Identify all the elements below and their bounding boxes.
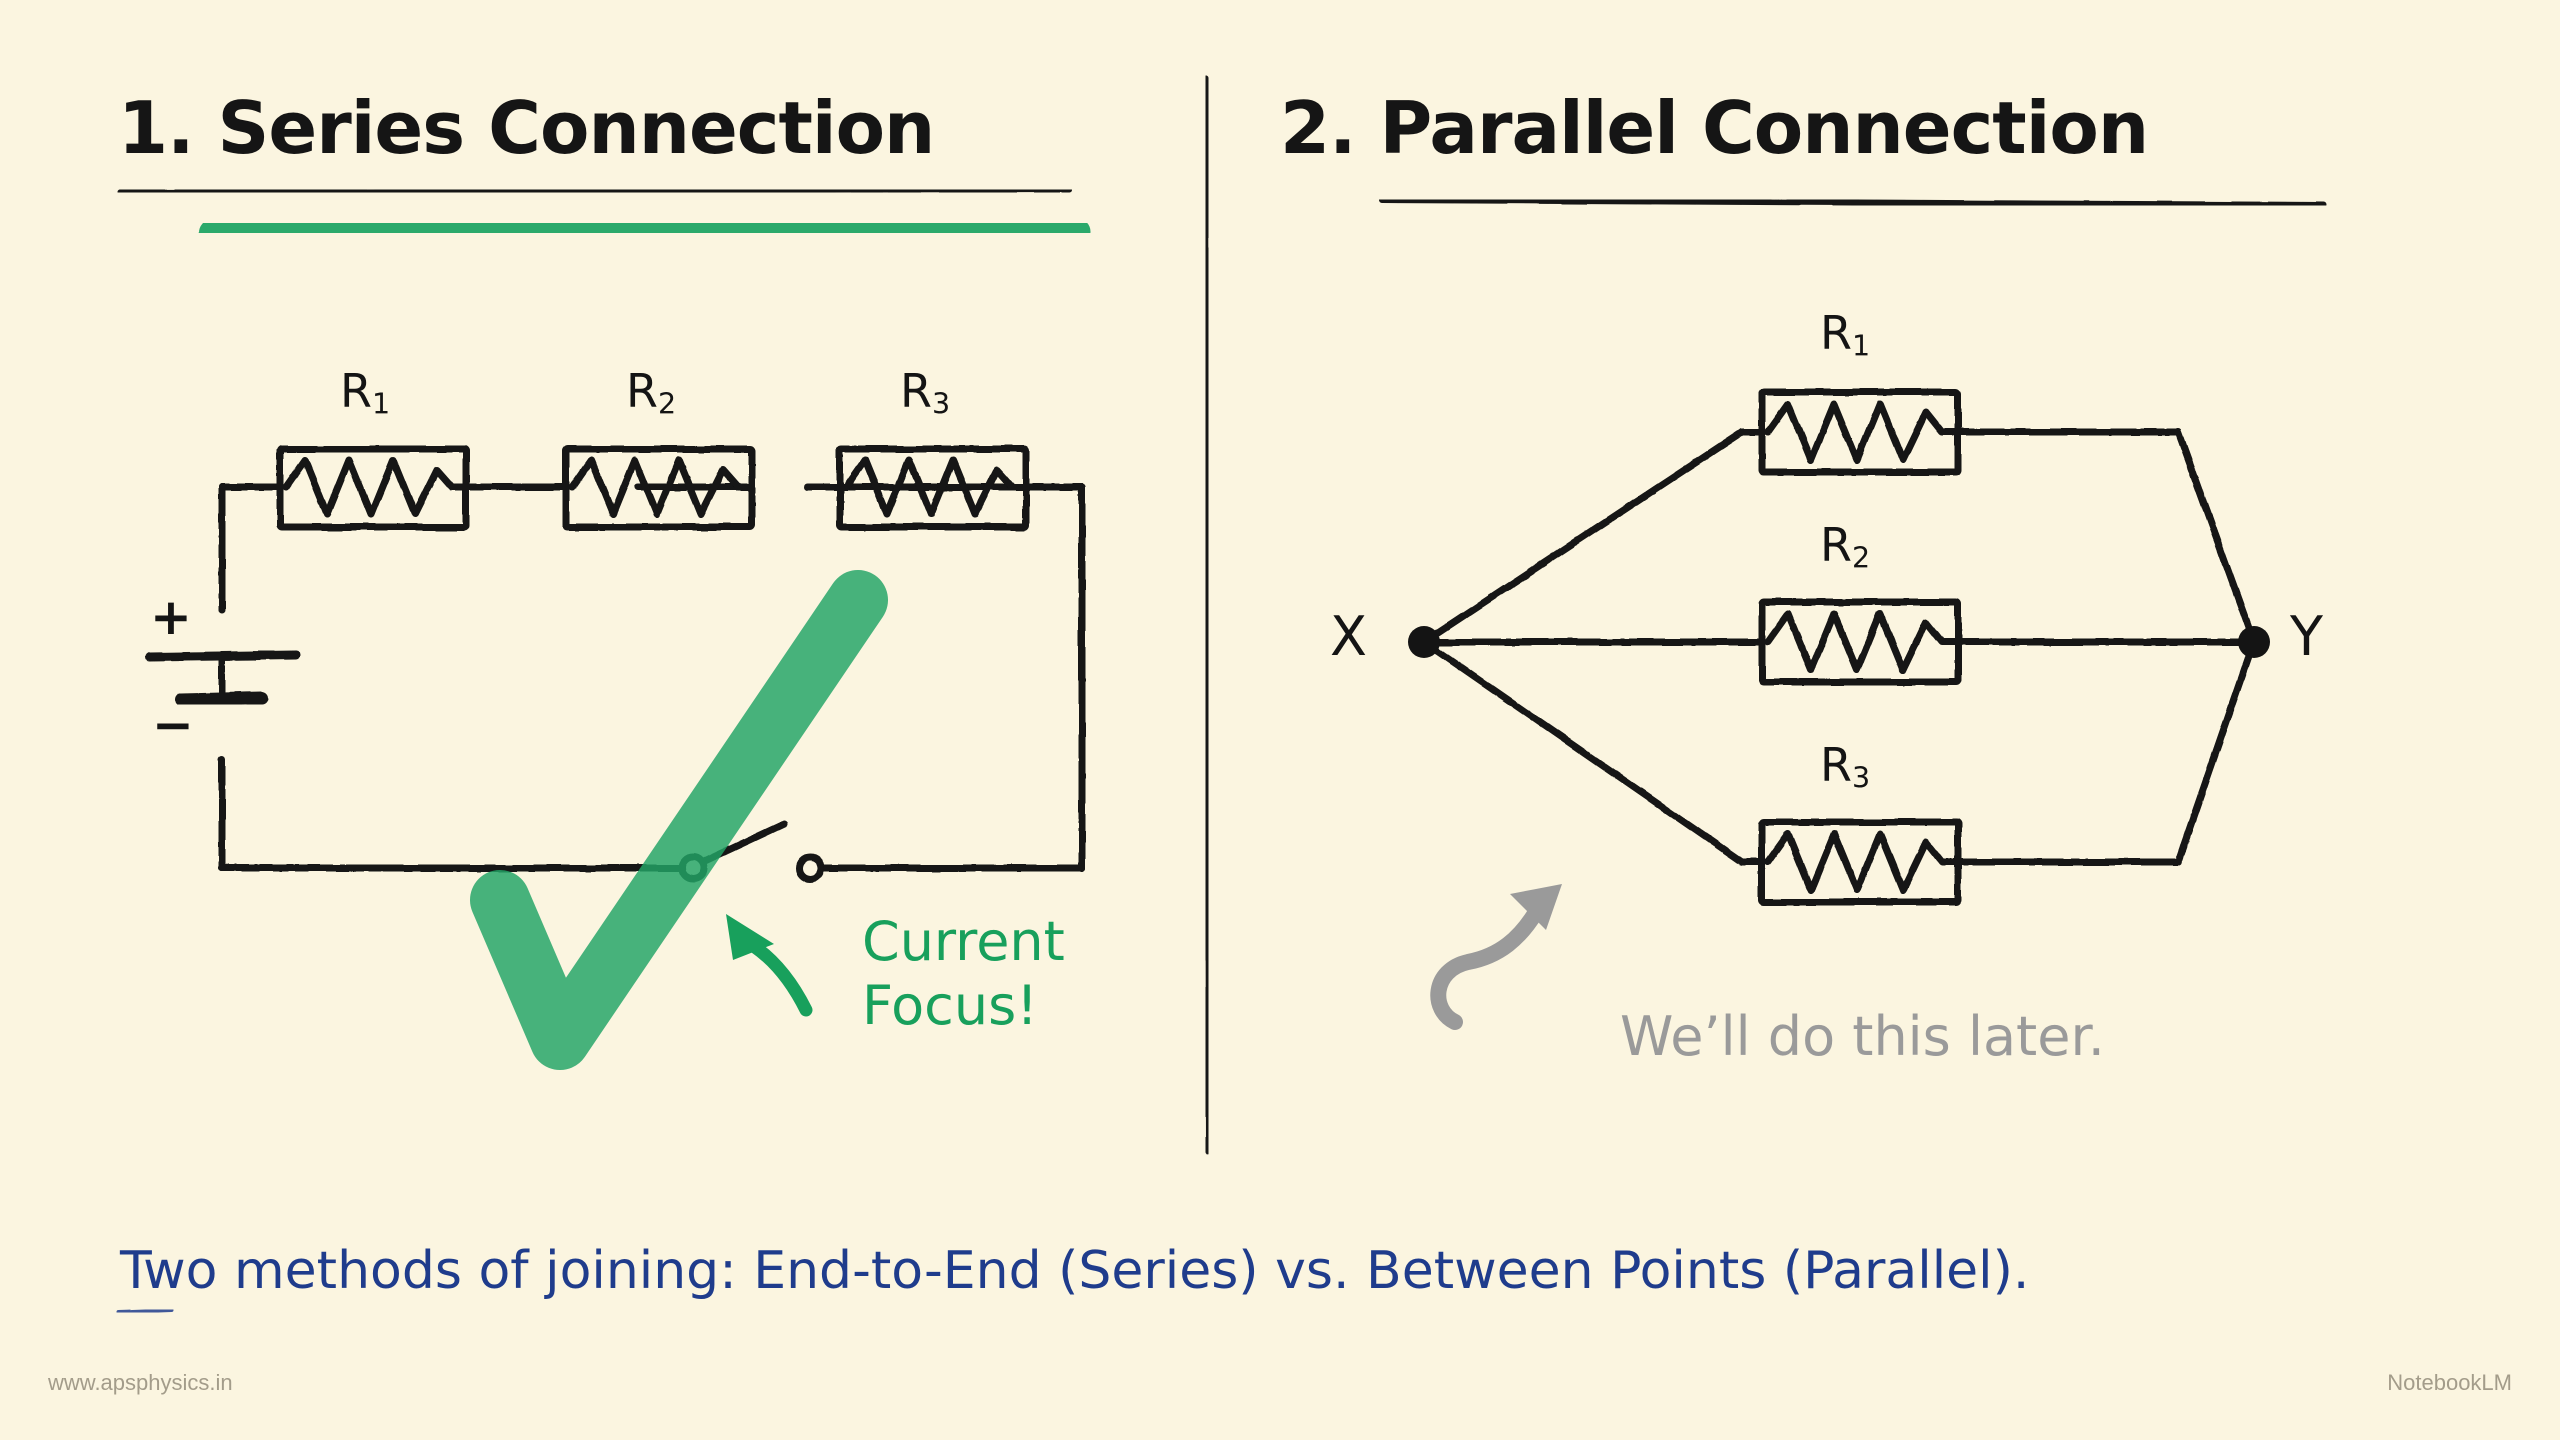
node-dot-y [2238, 626, 2270, 658]
series-label-r2-letter: R [626, 364, 658, 418]
series-resistor-r1 [280, 449, 466, 527]
node-label-y: Y [2290, 610, 2323, 664]
footer-website: www.apsphysics.in [48, 1372, 233, 1394]
parallel-label-r1-letter: R [1820, 306, 1852, 360]
series-label-r1: R1 [340, 368, 390, 419]
parallel-label-r2: R2 [1820, 522, 1870, 573]
parallel-label-r3-letter: R [1820, 738, 1852, 792]
node-dot-x [1408, 626, 1440, 658]
green-check-mark [500, 600, 858, 1052]
series-label-r1-letter: R [340, 364, 372, 418]
parallel-label-r3-sub: 3 [1852, 761, 1870, 794]
current-focus-annotation: Current Focus! [862, 910, 1065, 1037]
parallel-label-r1: R1 [1820, 310, 1870, 361]
slide-canvas: 1. Series Connection 2. Parallel Connect… [0, 0, 2560, 1440]
series-circuit [222, 487, 1082, 868]
panel-title-series: 1. Series Connection [118, 92, 934, 164]
battery-symbol [150, 655, 296, 700]
grey-curved-arrow-icon [1438, 884, 1562, 1022]
parallel-resistor-r2 [1762, 602, 1958, 682]
series-label-r2: R2 [626, 368, 676, 419]
battery-minus-label: − [152, 700, 194, 750]
parallel-label-r1-sub: 1 [1852, 329, 1870, 362]
current-focus-line2: Focus! [862, 974, 1065, 1038]
green-curved-arrow-icon [726, 914, 806, 1010]
parallel-label-r2-letter: R [1820, 518, 1852, 572]
parallel-label-r2-sub: 2 [1852, 541, 1870, 574]
series-label-r3: R3 [900, 368, 950, 419]
parallel-circuit [1424, 432, 2254, 862]
footer-brand: NotebookLM [2387, 1372, 2512, 1394]
parallel-label-r3: R3 [1820, 742, 1870, 793]
series-label-r3-letter: R [900, 364, 932, 418]
title-right-underline [1382, 200, 2324, 205]
series-label-r2-sub: 2 [658, 387, 676, 420]
series-label-r1-sub: 1 [372, 387, 390, 420]
panel-title-parallel: 2. Parallel Connection [1280, 92, 2148, 164]
parallel-resistor-r1 [1762, 392, 1958, 472]
parallel-resistor-r3 [1762, 822, 1958, 902]
current-focus-line1: Current [862, 910, 1065, 974]
panel-divider [1206, 78, 1208, 1152]
later-annotation: We’ll do this later. [1620, 1010, 2105, 1064]
circuit-drawing-layer [0, 0, 2560, 1440]
bottom-caption: Two methods of joining: End-to-End (Seri… [120, 1245, 2029, 1297]
series-label-r3-sub: 3 [932, 387, 950, 420]
battery-plus-label: + [150, 592, 192, 642]
title-left-underline [120, 190, 1070, 192]
green-marker-highlight [212, 224, 1078, 232]
caption-underline [118, 1310, 172, 1312]
node-label-x: X [1330, 610, 1367, 664]
